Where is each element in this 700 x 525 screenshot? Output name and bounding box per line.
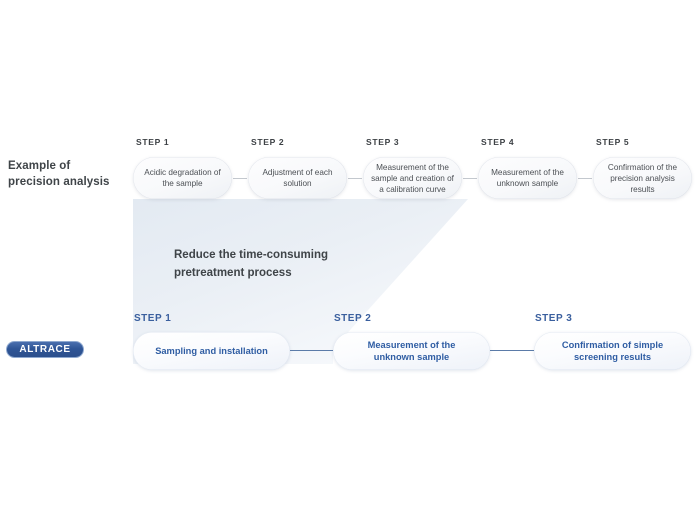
altrace-step-label-3: STEP 3 — [535, 313, 572, 324]
altrace-connector-2-3 — [490, 350, 534, 351]
precision-step-1-text-line1: Acidic degradation of — [144, 167, 220, 178]
altrace-step-pill-3[interactable]: Confirmation of simple screening results — [534, 332, 691, 370]
precision-step-1-text-line2: the sample — [144, 178, 220, 189]
precision-step-pill-4[interactable]: Measurement of the unknown sample — [478, 157, 577, 199]
precision-step-4-text-line2: unknown sample — [491, 178, 564, 189]
altrace-step-2-text-line1: Measurement of the — [368, 339, 456, 352]
precision-step-label-1: STEP 1 — [136, 137, 169, 147]
altrace-step-1-text-line1: Sampling and installation — [155, 345, 268, 358]
altrace-step-3-text-line1: Confirmation of simple — [562, 339, 663, 352]
altrace-step-label-1: STEP 1 — [134, 313, 171, 324]
precision-analysis-title-line1: Example of — [8, 158, 128, 174]
altrace-brand-label: ALTRACE — [19, 345, 70, 355]
precision-analysis-title-line2: precision analysis — [8, 174, 128, 190]
precision-analysis-title: Example of precision analysis — [8, 158, 128, 190]
precision-step-5-text-line2: precision analysis — [608, 173, 677, 184]
precision-step-pill-5[interactable]: Confirmation of the precision analysis r… — [593, 157, 692, 199]
precision-step-pill-1[interactable]: Acidic degradation of the sample — [133, 157, 232, 199]
funnel-caption-line1: Reduce the time-consuming — [174, 246, 389, 264]
precision-step-4-text-line1: Measurement of the — [491, 167, 564, 178]
precision-step-2-text-line1: Adjustment of each — [262, 167, 332, 178]
precision-connector-3-4 — [463, 178, 477, 179]
altrace-step-3-text-line2: screening results — [562, 351, 663, 364]
precision-step-label-4: STEP 4 — [481, 137, 514, 147]
precision-step-label-3: STEP 3 — [366, 137, 399, 147]
precision-connector-2-3 — [348, 178, 362, 179]
precision-connector-4-5 — [578, 178, 592, 179]
precision-step-3-text-line1: Measurement of the — [371, 162, 454, 173]
altrace-step-pill-1[interactable]: Sampling and installation — [133, 332, 290, 370]
altrace-brand-badge: ALTRACE — [6, 341, 84, 358]
precision-step-3-text-line3: a calibration curve — [371, 184, 454, 195]
precision-step-5-text-line1: Confirmation of the — [608, 162, 677, 173]
diagram-canvas: Example of precision analysis ALTRACE Re… — [0, 0, 700, 525]
precision-step-label-5: STEP 5 — [596, 137, 629, 147]
altrace-step-2-text-line2: unknown sample — [368, 351, 456, 364]
precision-step-label-2: STEP 2 — [251, 137, 284, 147]
precision-step-2-text-line2: solution — [262, 178, 332, 189]
altrace-step-pill-2[interactable]: Measurement of the unknown sample — [333, 332, 490, 370]
altrace-step-label-2: STEP 2 — [334, 313, 371, 324]
precision-step-pill-3[interactable]: Measurement of the sample and creation o… — [363, 157, 462, 199]
precision-step-3-text-line2: sample and creation of — [371, 173, 454, 184]
altrace-connector-1-2 — [290, 350, 333, 351]
precision-connector-1-2 — [233, 178, 247, 179]
precision-step-pill-2[interactable]: Adjustment of each solution — [248, 157, 347, 199]
funnel-caption: Reduce the time-consuming pretreatment p… — [174, 246, 389, 282]
precision-step-5-text-line3: results — [608, 184, 677, 195]
funnel-caption-line2: pretreatment process — [174, 264, 389, 282]
